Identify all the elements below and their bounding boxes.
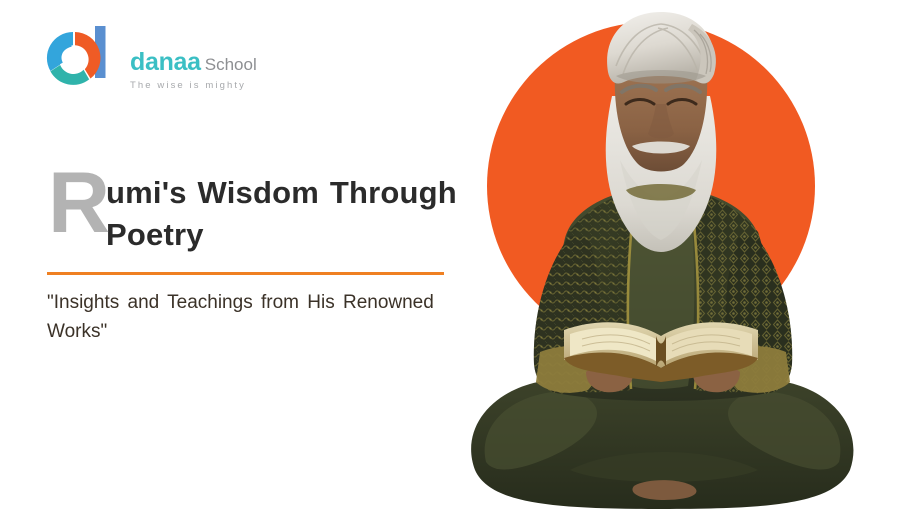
brand-logo[interactable]: danaaSchool The wise is mighty — [44, 26, 284, 104]
page-title: umi's Wisdom Through Poetry — [48, 172, 468, 256]
title-divider — [47, 272, 444, 275]
brand-suffix: School — [205, 55, 257, 74]
hero-title-block: R umi's Wisdom Through Poetry — [48, 172, 468, 256]
hero-artwork — [420, 0, 905, 509]
title-dropcap: R — [48, 167, 110, 240]
poster-canvas: danaaSchool The wise is mighty R umi's W… — [0, 0, 905, 509]
brand-wordmark: danaaSchool The wise is mighty — [130, 50, 280, 91]
danaa-d-monogram-icon — [44, 26, 116, 92]
brand-tagline: The wise is mighty — [130, 80, 280, 91]
seated-scholar-illustration — [420, 0, 905, 509]
brand-name: danaa — [130, 48, 201, 76]
hero-subtitle: "Insights and Teachings from His Renowne… — [47, 289, 447, 346]
